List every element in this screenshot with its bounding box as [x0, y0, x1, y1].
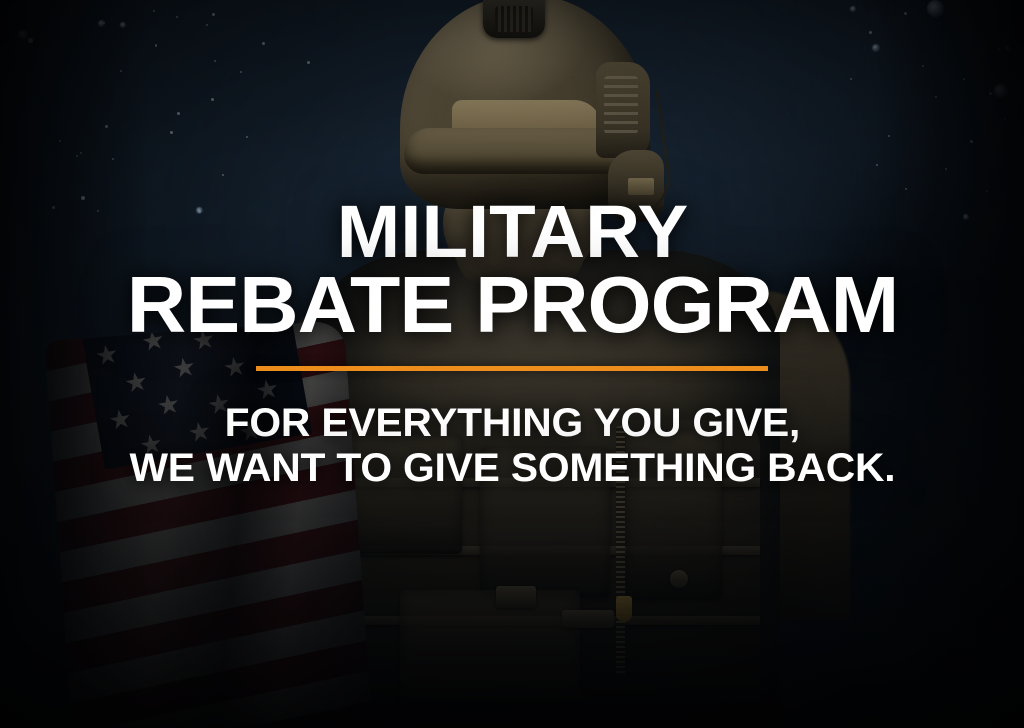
subheadline: FOR EVERYTHING YOU GIVE, WE WANT TO GIVE…: [129, 401, 895, 492]
subheadline-line-1: FOR EVERYTHING YOU GIVE,: [129, 401, 895, 447]
headline-line-1: MILITARY: [126, 196, 897, 267]
military-rebate-banner: ★★★★★★★★★★★★★★ MILITARY REBATE PROGRAM F…: [0, 0, 1024, 728]
subheadline-line-2: WE WANT TO GIVE SOMETHING BACK.: [129, 446, 895, 492]
banner-content: MILITARY REBATE PROGRAM FOR EVERYTHING Y…: [0, 0, 1024, 728]
headline-line-2: REBATE PROGRAM: [126, 267, 897, 344]
page-title: MILITARY REBATE PROGRAM: [126, 196, 897, 344]
accent-divider: [256, 366, 768, 371]
